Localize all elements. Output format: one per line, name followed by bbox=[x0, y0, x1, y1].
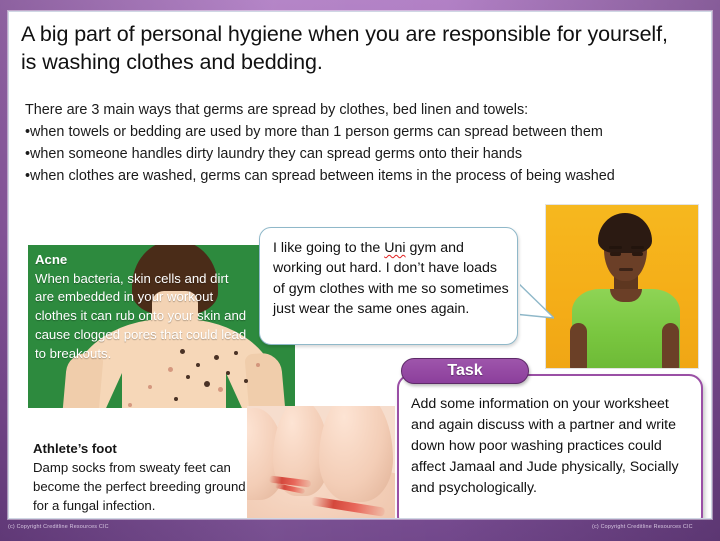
photo-eye-right bbox=[632, 252, 643, 256]
athletes-foot-body: Damp socks from sweaty feet can become t… bbox=[33, 460, 246, 513]
photo-arm-right bbox=[662, 323, 679, 369]
photo-eye-left bbox=[610, 252, 621, 256]
intro-bullet-2: •when someone handles dirty laundry they… bbox=[25, 144, 697, 166]
acne-spot-icon bbox=[204, 381, 210, 387]
acne-spot-icon bbox=[148, 385, 152, 389]
acne-spot-icon bbox=[244, 379, 248, 383]
task-box: Add some information on your worksheet a… bbox=[397, 374, 703, 519]
spellcheck-misspelled-word: Uni bbox=[384, 240, 405, 256]
photo-mouth bbox=[619, 268, 633, 271]
acne-illustration-panel: Acne When bacteria, skin cells and dirt … bbox=[28, 245, 295, 408]
acne-spot-icon bbox=[256, 363, 260, 367]
speech-bubble: I like going to the Uni gym and working … bbox=[259, 227, 518, 345]
speech-bubble-tail bbox=[514, 274, 554, 326]
acne-spot-icon bbox=[226, 371, 230, 375]
student-photo-jamaal bbox=[545, 204, 699, 369]
intro-bullet-3: •when clothes are washed, germs can spre… bbox=[25, 166, 697, 188]
photo-arm-left bbox=[570, 323, 587, 369]
slide-content-card: A big part of personal hygiene when you … bbox=[8, 11, 712, 519]
task-body-text: Add some information on your worksheet a… bbox=[411, 394, 695, 498]
acne-spot-icon bbox=[186, 375, 190, 379]
slide-canvas: A big part of personal hygiene when you … bbox=[0, 0, 720, 541]
page-title: A big part of personal hygiene when you … bbox=[21, 21, 681, 77]
acne-spot-icon bbox=[196, 363, 200, 367]
acne-caption-title: Acne bbox=[35, 251, 250, 270]
athletes-foot-caption: Athlete’s foot Damp socks from sweaty fe… bbox=[33, 440, 247, 516]
intro-text-block: There are 3 main ways that germs are spr… bbox=[25, 100, 697, 188]
task-badge: Task bbox=[401, 358, 529, 384]
acne-caption: Acne When bacteria, skin cells and dirt … bbox=[35, 251, 250, 363]
task-badge-label: Task bbox=[402, 359, 528, 382]
footer: (c) Copyright Creditline Resources CIC (… bbox=[0, 519, 720, 541]
copyright-right: (c) Copyright Creditline Resources CIC bbox=[592, 524, 693, 530]
acne-spot-icon bbox=[218, 387, 223, 392]
acne-spot-icon bbox=[174, 397, 178, 401]
copyright-left: (c) Copyright Creditline Resources CIC bbox=[8, 524, 109, 530]
athletes-foot-photo bbox=[247, 406, 395, 519]
speech-bubble-text: I like going to the Uni gym and working … bbox=[273, 238, 509, 320]
speech-part-1: I like going to the bbox=[273, 240, 384, 256]
intro-bullet-1: •when towels or bedding are used by more… bbox=[25, 122, 697, 144]
acne-spot-icon bbox=[128, 403, 132, 407]
acne-spot-icon bbox=[168, 367, 173, 372]
athletes-foot-title: Athlete’s foot bbox=[33, 440, 247, 459]
photo-eyebrow-left bbox=[609, 246, 622, 249]
photo-eyebrow-right bbox=[631, 246, 644, 249]
intro-lead: There are 3 main ways that germs are spr… bbox=[25, 100, 697, 122]
toe-shape bbox=[319, 406, 393, 502]
acne-caption-body: When bacteria, skin cells and dirt are e… bbox=[35, 271, 246, 361]
illustration-arm-right bbox=[244, 352, 287, 408]
